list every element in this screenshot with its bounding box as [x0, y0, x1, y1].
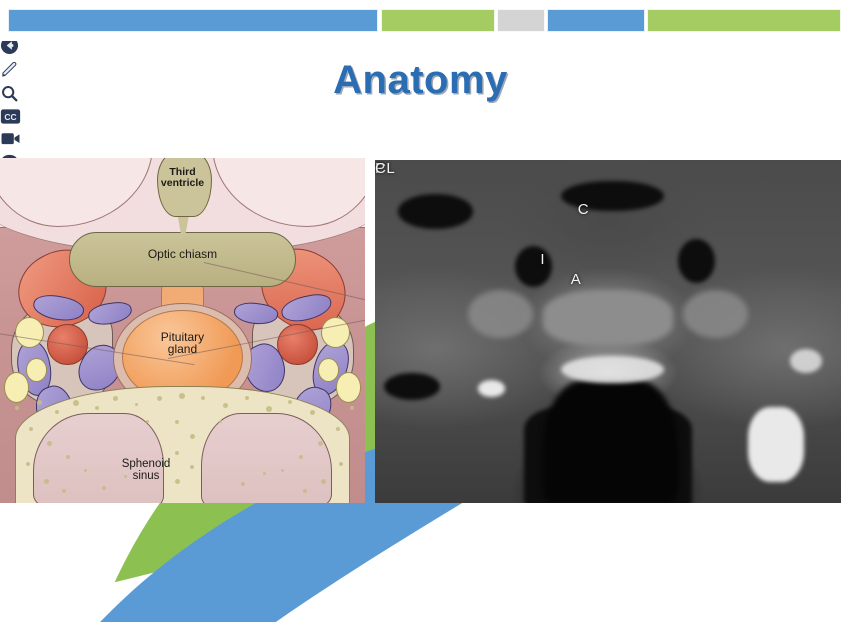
mri-t1-image: C I A P CL [375, 160, 841, 503]
svg-text:CC: CC [4, 112, 16, 122]
bone-marrow-dot [37, 400, 42, 405]
bone-marrow-dot [135, 403, 138, 406]
diagram-sphenoid-sinus-right [201, 413, 332, 503]
mri-label-i: I [540, 251, 545, 268]
diagram-fat-pad-right-3 [336, 372, 362, 403]
bone-marrow-dot [55, 410, 59, 414]
mri-bright-right-lateral [748, 407, 804, 482]
bone-marrow-dot [157, 396, 162, 401]
mri-bright-right-edge [790, 349, 823, 373]
mri-cavernous-right [683, 290, 748, 338]
bone-marrow-dot [281, 469, 284, 472]
mri-label-c: C [578, 201, 589, 218]
closed-caption-icon[interactable]: CC [0, 108, 841, 130]
bone-marrow-dot [179, 393, 185, 399]
mri-label-cl: CL [375, 160, 395, 177]
mri-pituitary-gland [543, 290, 673, 345]
mri-sphenoid-sinus-void [543, 380, 678, 503]
top-bar-segment-1[interactable] [8, 9, 378, 32]
diagram-fat-pad-left-3 [4, 372, 30, 403]
bone-marrow-dot [288, 400, 292, 404]
diagram-label-optic-chiasm: Optic chiasm [99, 248, 267, 261]
mri-bright-clivus [561, 356, 664, 383]
mri-label-a: A [571, 271, 582, 288]
bone-marrow-dot [73, 400, 79, 406]
bone-marrow-dot [190, 434, 195, 439]
diagram-label-pituitary-gland: Pituitary gland [120, 331, 244, 356]
mri-void-left-carotid [515, 246, 552, 287]
mri-void-upper-left [398, 194, 473, 228]
bone-marrow-dot [44, 479, 49, 484]
top-bar-segment-3[interactable] [497, 9, 545, 32]
top-bar-segment-4[interactable] [547, 9, 645, 32]
bone-marrow-dot [223, 403, 228, 408]
bone-marrow-dot [245, 396, 249, 400]
bone-marrow-dot [66, 455, 70, 459]
bone-marrow-dot [102, 486, 106, 490]
coronal-anatomy-diagram: Third ventricle Optic chiasm Pituitary g… [0, 158, 365, 503]
bone-marrow-dot [318, 441, 323, 446]
diagram-fat-pad-left [15, 317, 44, 348]
bone-marrow-dot [26, 462, 30, 466]
bone-marrow-dot [336, 427, 340, 431]
mri-bright-left-mucosa [478, 380, 506, 397]
presentation-slide: Anatomy [0, 0, 841, 622]
diagram-label-sphenoid-sinus: Sphenoid sinus [80, 458, 211, 482]
mri-void-left-temporal [384, 373, 440, 400]
bone-marrow-dot [263, 472, 266, 475]
top-bar-segment-2[interactable] [381, 9, 495, 32]
video-camera-icon[interactable] [0, 130, 841, 152]
page-title: Anatomy [0, 58, 841, 103]
top-bar-segment-5[interactable] [647, 9, 841, 32]
bone-marrow-dot [201, 396, 205, 400]
diagram-label-third-ventricle: Third ventricle [146, 167, 219, 189]
top-progress-bar [0, 0, 841, 41]
diagram-fat-pad-right [321, 317, 350, 348]
